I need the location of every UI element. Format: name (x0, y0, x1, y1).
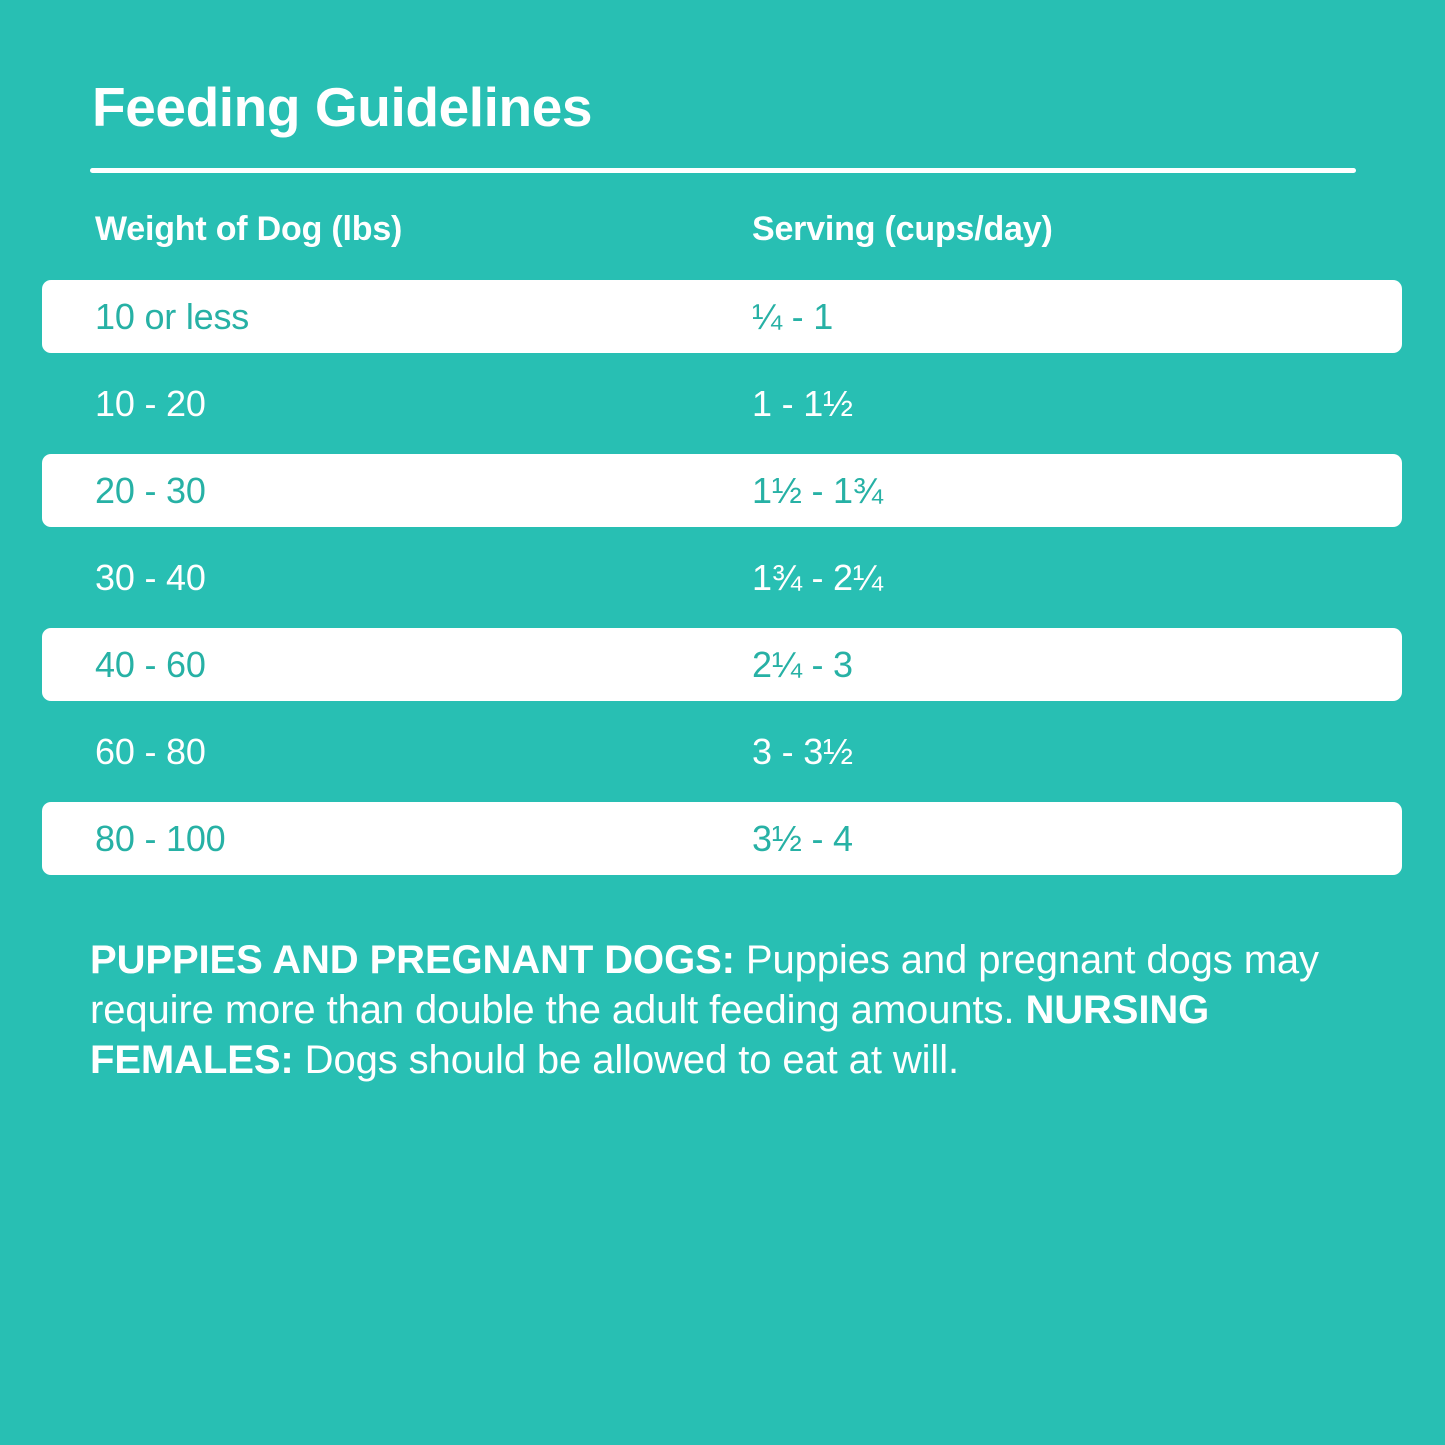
table-row: 60 - 803 - 3½ (0, 708, 1445, 795)
row-background (42, 367, 1402, 440)
cell-weight: 10 - 20 (95, 360, 206, 447)
feeding-guidelines-panel: Feeding Guidelines Weight of Dog (lbs) S… (0, 0, 1445, 1445)
cell-serving: 1¾ - 2¼ (752, 534, 883, 621)
table-row: 40 - 602¼ - 3 (0, 621, 1445, 708)
table-body: 10 or less¼ - 110 - 201 - 1½20 - 301½ - … (0, 273, 1445, 882)
page-title: Feeding Guidelines (92, 74, 592, 140)
row-background (42, 715, 1402, 788)
cell-serving: ¼ - 1 (752, 273, 833, 360)
feeding-note: PUPPIES AND PREGNANT DOGS: Puppies and p… (90, 935, 1375, 1085)
cell-weight: 20 - 30 (95, 447, 206, 534)
cell-weight: 40 - 60 (95, 621, 206, 708)
cell-serving: 1 - 1½ (752, 360, 853, 447)
note-label: PUPPIES AND PREGNANT DOGS: (90, 938, 735, 982)
table-row: 30 - 401¾ - 2¼ (0, 534, 1445, 621)
table-header-row: Weight of Dog (lbs) Serving (cups/day) (0, 205, 1445, 273)
row-background (42, 628, 1402, 701)
table-row: 10 - 201 - 1½ (0, 360, 1445, 447)
table-row: 10 or less¼ - 1 (0, 273, 1445, 360)
title-divider (90, 168, 1356, 173)
note-text: Dogs should be allowed to eat at will. (294, 1038, 959, 1082)
cell-serving: 1½ - 1¾ (752, 447, 883, 534)
cell-weight: 80 - 100 (95, 795, 226, 882)
row-background (42, 541, 1402, 614)
cell-weight: 30 - 40 (95, 534, 206, 621)
row-background (42, 454, 1402, 527)
feeding-guidelines-table: Weight of Dog (lbs) Serving (cups/day) 1… (0, 205, 1445, 882)
cell-serving: 3 - 3½ (752, 708, 853, 795)
cell-weight: 10 or less (95, 273, 249, 360)
cell-serving: 2¼ - 3 (752, 621, 853, 708)
cell-weight: 60 - 80 (95, 708, 206, 795)
table-row: 80 - 1003½ - 4 (0, 795, 1445, 882)
table-row: 20 - 301½ - 1¾ (0, 447, 1445, 534)
column-header-serving: Serving (cups/day) (752, 205, 1053, 253)
column-header-weight: Weight of Dog (lbs) (95, 205, 402, 253)
row-background (42, 802, 1402, 875)
cell-serving: 3½ - 4 (752, 795, 853, 882)
